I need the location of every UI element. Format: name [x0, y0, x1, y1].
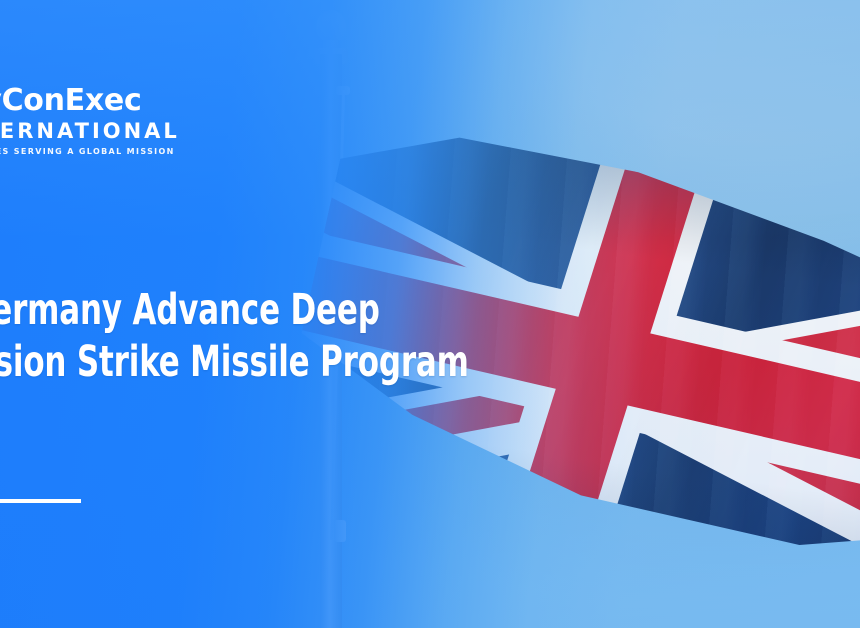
logo-wordmark: ovConExec [0, 86, 180, 116]
title-divider [0, 499, 81, 503]
logo-subtitle: NTERNATIONAL [0, 121, 180, 142]
site-logo[interactable]: ovConExec NTERNATIONAL CUTIVES SERVING A… [0, 86, 180, 156]
logo-tagline: CUTIVES SERVING A GLOBAL MISSION [0, 148, 180, 156]
headline-line-2: cision Strike Missile Program [0, 336, 478, 388]
page-title: Germany Advance Deep cision Strike Missi… [0, 284, 478, 388]
article-hero-banner: ovConExec NTERNATIONAL CUTIVES SERVING A… [0, 0, 860, 628]
headline-line-1: Germany Advance Deep [0, 284, 478, 336]
hero-content: ovConExec NTERNATIONAL CUTIVES SERVING A… [0, 0, 860, 628]
